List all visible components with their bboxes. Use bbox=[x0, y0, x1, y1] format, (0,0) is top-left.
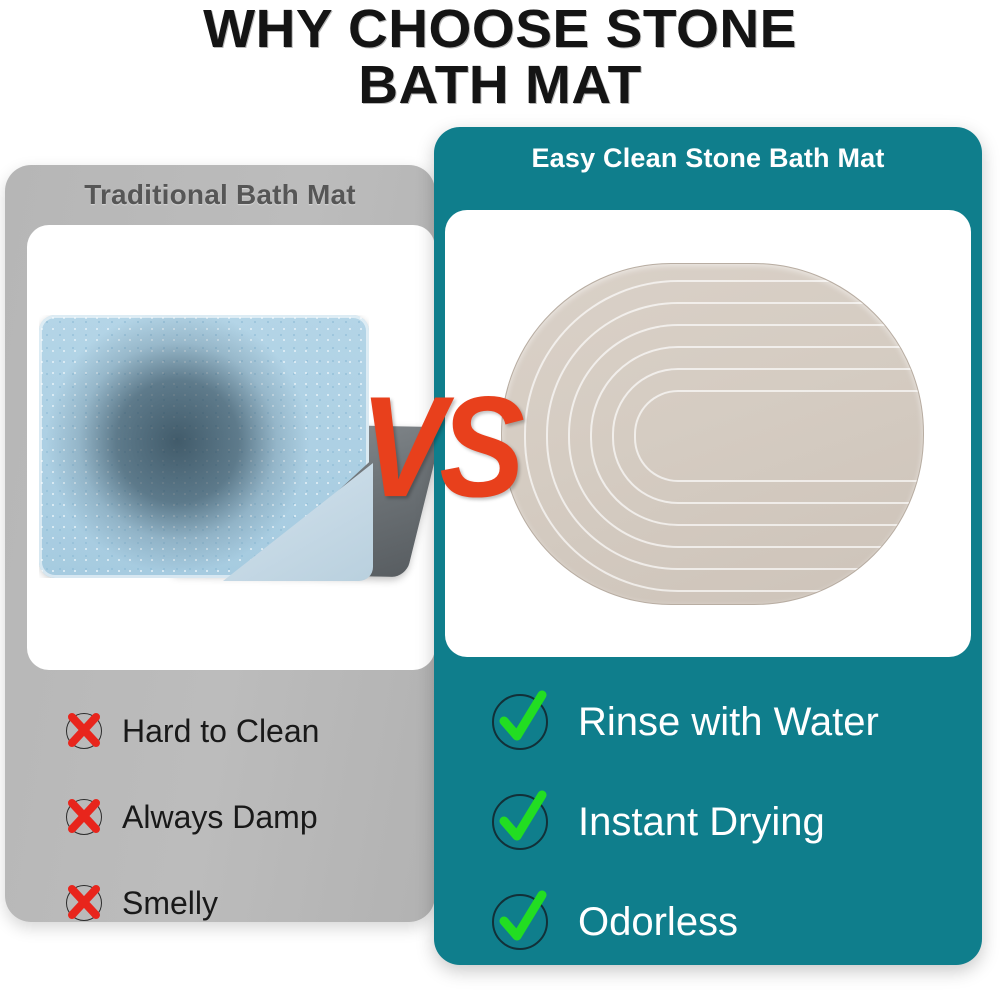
stone-feature-list: Rinse with Water Instant Drying Odorless bbox=[492, 672, 962, 972]
stone-product-card bbox=[445, 210, 971, 657]
cross-icon bbox=[66, 885, 102, 921]
page-title: WHY CHOOSE STONE BATH MAT bbox=[0, 4, 1000, 112]
check-icon bbox=[492, 694, 548, 750]
cross-icon bbox=[66, 799, 102, 835]
stone-panel-header: Easy Clean Stone Bath Mat bbox=[434, 143, 982, 174]
stone-bath-mat-image bbox=[501, 263, 924, 605]
mat-groove bbox=[634, 390, 924, 482]
check-icon bbox=[492, 894, 548, 950]
list-item-label: Odorless bbox=[578, 900, 738, 945]
versus-badge: VS bbox=[360, 376, 519, 519]
check-icon bbox=[492, 794, 548, 850]
page-title-line-2: BATH MAT bbox=[0, 60, 1000, 112]
list-item: Always Damp bbox=[66, 774, 436, 860]
list-item-label: Instant Drying bbox=[578, 800, 825, 845]
list-item-label: Hard to Clean bbox=[122, 713, 319, 750]
infographic-canvas: WHY CHOOSE STONE BATH MAT Traditional Ba… bbox=[0, 0, 1000, 1000]
list-item: Smelly bbox=[66, 860, 436, 946]
list-item: Hard to Clean bbox=[66, 688, 436, 774]
list-item-label: Always Damp bbox=[122, 799, 318, 836]
list-item: Odorless bbox=[492, 872, 962, 972]
list-item-label: Rinse with Water bbox=[578, 700, 879, 745]
list-item: Rinse with Water bbox=[492, 672, 962, 772]
traditional-panel-header: Traditional Bath Mat bbox=[5, 179, 435, 211]
page-title-line-1: WHY CHOOSE STONE bbox=[0, 4, 1000, 56]
list-item-label: Smelly bbox=[122, 885, 218, 922]
cross-icon bbox=[66, 713, 102, 749]
traditional-feature-list: Hard to Clean Always Damp Smelly bbox=[66, 688, 436, 946]
list-item: Instant Drying bbox=[492, 772, 962, 872]
